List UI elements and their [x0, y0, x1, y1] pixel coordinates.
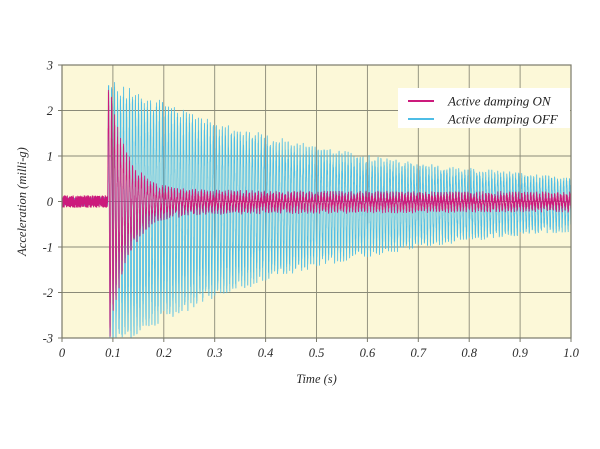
x-tick-label: 0.9 [512, 346, 528, 360]
x-tick-label: 1.0 [563, 346, 579, 360]
x-tick-label: 0.7 [410, 346, 426, 360]
x-tick-label: 0 [59, 346, 66, 360]
x-tick-label: 0.6 [360, 346, 376, 360]
y-tick-label: 3 [46, 59, 53, 73]
x-tick-label: 0.4 [258, 346, 274, 360]
y-tick-label: -1 [43, 241, 53, 255]
y-tick-label: 1 [47, 150, 53, 164]
legend-label-1: Active damping OFF [447, 112, 559, 127]
x-axis: 00.10.20.30.40.50.60.70.80.91.0Time (s) [59, 338, 580, 386]
x-tick-label: 0.1 [105, 346, 121, 360]
acceleration-time-chart: 00.10.20.30.40.50.60.70.80.91.0Time (s)-… [0, 0, 600, 449]
y-tick-label: 0 [47, 195, 54, 209]
chart-figure: 00.10.20.30.40.50.60.70.80.91.0Time (s)-… [0, 0, 600, 449]
y-axis: -3-2-10123Acceleration (milli-g) [15, 59, 62, 346]
x-tick-label: 0.2 [156, 346, 172, 360]
y-tick-label: 2 [47, 104, 53, 118]
chart-legend: Active damping ONActive damping OFF [398, 88, 570, 128]
y-axis-title: Acceleration (milli-g) [15, 147, 29, 257]
x-tick-label: 0.3 [207, 346, 223, 360]
y-tick-label: -2 [43, 286, 53, 300]
x-tick-label: 0.5 [309, 346, 325, 360]
legend-label-0: Active damping ON [447, 94, 552, 109]
x-axis-title: Time (s) [296, 372, 337, 386]
x-tick-label: 0.8 [461, 346, 477, 360]
y-tick-label: -3 [43, 332, 53, 346]
